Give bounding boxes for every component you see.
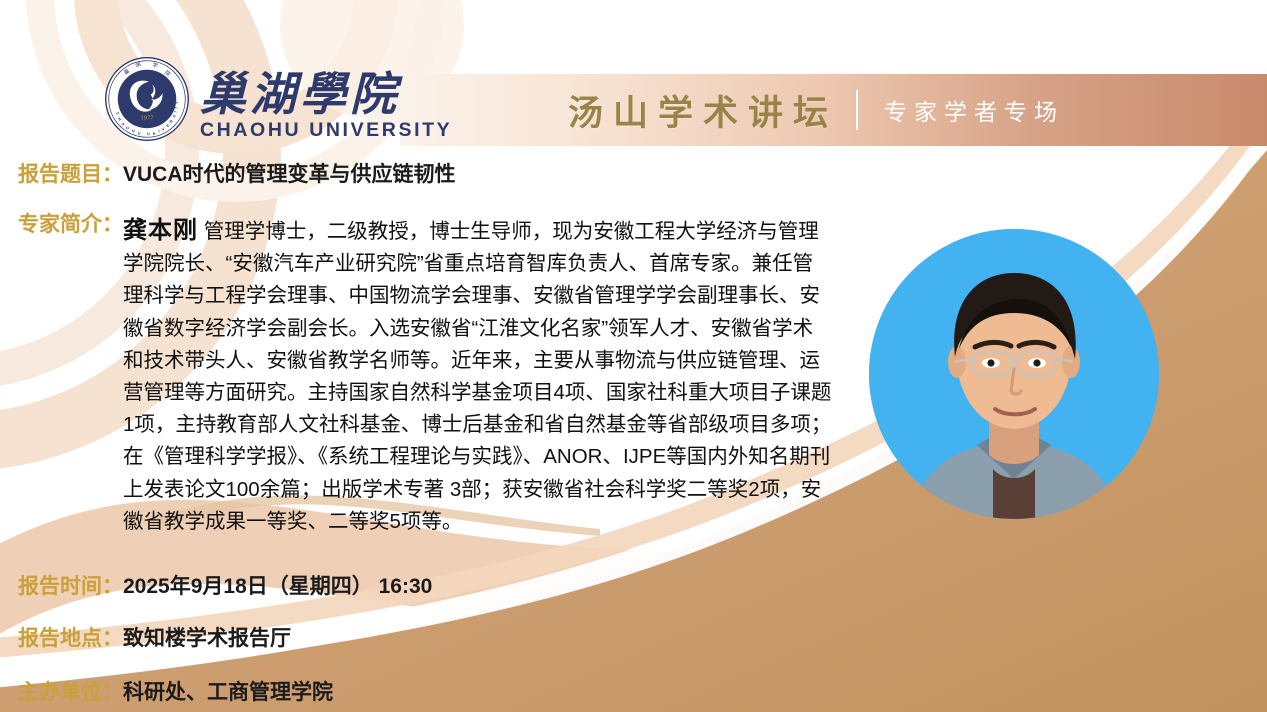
speaker-name: 龚本刚	[123, 217, 198, 244]
report-title-label: 报告题目：	[18, 160, 123, 190]
report-title-row: 报告题目： VUCA时代的管理变革与供应链韧性	[18, 160, 456, 190]
university-logo: 1977 巢 湖 学 院 C H A O H U	[104, 56, 452, 142]
report-organizer-label: 主办单位：	[18, 678, 123, 708]
report-title-value: VUCA时代的管理变革与供应链韧性	[123, 160, 456, 190]
chaohu-university-seal-icon: 1977 巢 湖 学 院 C H A O H U	[104, 56, 190, 142]
speaker-bio-text-block: 龚本刚 管理学博士，二级教授，博士生导师，现为安徽工程大学经济与管理学院院长、“…	[123, 210, 833, 538]
seal-year: 1977	[140, 116, 153, 122]
poster-header: 汤山学术讲坛 专家学者专场 1977 巢 湖	[0, 0, 1267, 150]
logo-wordmark: 巢湖學院 CHAOHU UNIVERSITY	[200, 69, 452, 140]
report-place-row: 报告地点： 致知楼学术报告厅	[18, 624, 291, 654]
report-time-label: 报告时间：	[18, 572, 123, 602]
report-time-row: 报告时间： 2025年9月18日（星期四） 16:30	[18, 572, 432, 602]
speaker-portrait	[869, 229, 1159, 519]
speaker-bio-text: 管理学博士，二级教授，博士生导师，现为安徽工程大学经济与管理学院院长、“安徽汽车…	[123, 220, 831, 533]
banner-subtitle: 专家学者专场	[884, 93, 1064, 127]
speaker-bio-label: 专家简介：	[18, 210, 123, 240]
report-organizer-row: 主办单位： 科研处、工商管理学院	[18, 678, 333, 708]
svg-text:U: U	[147, 132, 150, 136]
logo-name-en: CHAOHU UNIVERSITY	[200, 120, 452, 140]
banner-divider	[856, 90, 858, 130]
speaker-bio-row: 专家简介： 龚本刚 管理学博士，二级教授，博士生导师，现为安徽工程大学经济与管理…	[18, 210, 833, 538]
report-time-value: 2025年9月18日（星期四） 16:30	[123, 572, 432, 602]
banner-strip: 汤山学术讲坛 专家学者专场	[400, 74, 1267, 146]
report-place-label: 报告地点：	[18, 624, 123, 654]
banner-main-title: 汤山学术讲坛	[568, 85, 838, 136]
logo-name-cn: 巢湖學院	[200, 69, 452, 119]
report-place-value: 致知楼学术报告厅	[123, 624, 291, 654]
poster-canvas: 汤山学术讲坛 专家学者专场 1977 巢 湖	[0, 0, 1267, 712]
report-organizer-value: 科研处、工商管理学院	[123, 678, 333, 708]
